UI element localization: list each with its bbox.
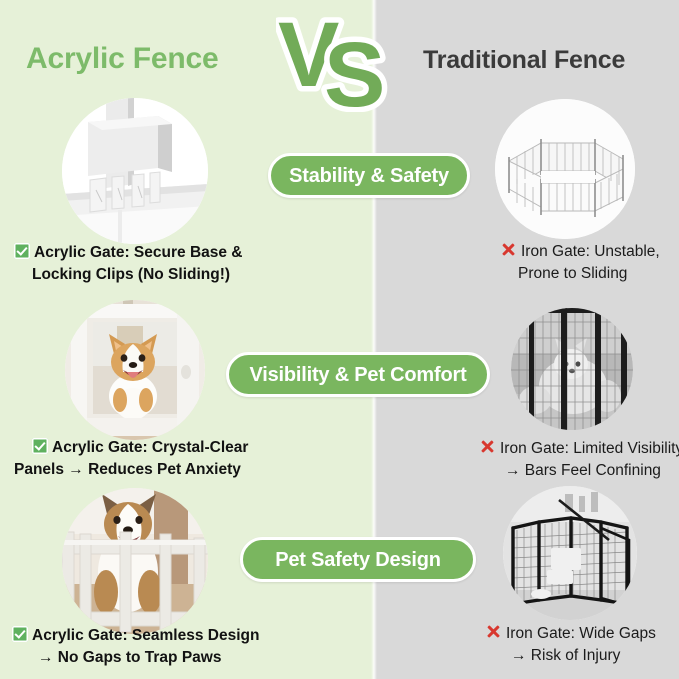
caption-line: Acrylic Gate: Secure Base &	[14, 242, 243, 264]
caption-line: Iron Gate: Unstable,	[500, 241, 660, 263]
caption-text: Locking Clips (No Sliding!)	[32, 266, 230, 283]
left-column-title: Acrylic Fence	[26, 42, 219, 76]
black-wire-playpen-wide-gaps-photo	[503, 486, 637, 620]
row-1-right-caption: Iron Gate: Unstable, Prone to Sliding	[500, 241, 660, 285]
row-1-badge-label: Stability & Safety	[289, 166, 449, 186]
caption-line: → No Gaps to Trap Paws	[12, 647, 259, 669]
comparison-row-1: Acrylic Gate: Secure Base & Locking Clip…	[0, 98, 679, 292]
wire-playpen-enclosure-photo	[495, 99, 635, 239]
photo-art	[65, 300, 205, 440]
photo-art	[62, 98, 208, 244]
acrylic-gate-base-clips-photo	[62, 98, 208, 244]
row-1-badge[interactable]: Stability & Safety	[268, 153, 470, 198]
corgi-behind-clear-acrylic-gate-photo	[65, 300, 205, 440]
dog-behind-iron-bars-photo	[511, 308, 633, 430]
caption-text: Acrylic Gate: Seamless Design	[32, 627, 259, 644]
caption-line: Acrylic Gate: Crystal-Clear	[14, 437, 248, 459]
vs-badge: .vs-t { font-family: "Liberation Sans", …	[276, 6, 401, 112]
caption-line: → Risk of Injury	[485, 645, 656, 667]
corgi-inside-acrylic-playpen-photo	[62, 488, 208, 634]
vs-icon: .vs-t { font-family: "Liberation Sans", …	[276, 6, 401, 112]
row-1-left-caption: Acrylic Gate: Secure Base & Locking Clip…	[14, 242, 243, 286]
photo-art	[511, 308, 633, 430]
x-icon	[500, 241, 517, 258]
header: Acrylic Fence Traditional Fence .vs-t { …	[0, 0, 679, 98]
comparison-infographic: Acrylic Fence Traditional Fence .vs-t { …	[0, 0, 679, 679]
photo-art	[495, 99, 635, 239]
row-2-badge-label: Visibility & Pet Comfort	[249, 365, 466, 385]
check-icon	[14, 243, 30, 259]
right-column-title: Traditional Fence	[423, 46, 625, 75]
row-2-badge[interactable]: Visibility & Pet Comfort	[226, 352, 490, 397]
caption-line: Acrylic Gate: Seamless Design	[12, 625, 259, 647]
caption-text: Acrylic Gate: Secure Base &	[34, 244, 243, 261]
row-3-right-caption: Iron Gate: Wide Gaps → Risk of Injury	[485, 623, 656, 667]
caption-text: → Risk of Injury	[511, 647, 620, 664]
caption-text: Panels → Reduces Pet Anxiety	[14, 461, 241, 478]
caption-text: Iron Gate: Unstable,	[521, 243, 660, 260]
row-3-badge-label: Pet Safety Design	[275, 550, 441, 570]
photo-art	[503, 486, 637, 620]
row-3-left-caption: Acrylic Gate: Seamless Design → No Gaps …	[12, 625, 259, 669]
caption-line: Locking Clips (No Sliding!)	[14, 264, 243, 286]
caption-text: Acrylic Gate: Crystal-Clear	[52, 439, 248, 456]
comparison-row-3: Acrylic Gate: Seamless Design → No Gaps …	[0, 482, 679, 679]
caption-line: Iron Gate: Limited Visibility	[479, 438, 679, 460]
check-icon	[32, 438, 48, 454]
caption-text: Prone to Sliding	[518, 265, 627, 282]
x-icon	[485, 623, 502, 640]
x-icon	[479, 438, 496, 455]
caption-line: Panels → Reduces Pet Anxiety	[14, 459, 248, 481]
caption-text: Iron Gate: Wide Gaps	[506, 625, 656, 642]
row-3-badge[interactable]: Pet Safety Design	[240, 537, 476, 582]
caption-text: → Bars Feel Confining	[505, 462, 661, 479]
comparison-row-2: Acrylic Gate: Crystal-Clear Panels → Red…	[0, 292, 679, 482]
row-2-right-caption: Iron Gate: Limited Visibility → Bars Fee…	[479, 438, 679, 482]
caption-text: → No Gaps to Trap Paws	[38, 649, 221, 666]
caption-text: Iron Gate: Limited Visibility	[500, 440, 679, 457]
row-2-left-caption: Acrylic Gate: Crystal-Clear Panels → Red…	[14, 437, 248, 481]
caption-line: → Bars Feel Confining	[479, 460, 679, 482]
check-icon	[12, 626, 28, 642]
caption-line: Iron Gate: Wide Gaps	[485, 623, 656, 645]
caption-line: Prone to Sliding	[500, 263, 660, 285]
photo-art	[62, 488, 208, 634]
